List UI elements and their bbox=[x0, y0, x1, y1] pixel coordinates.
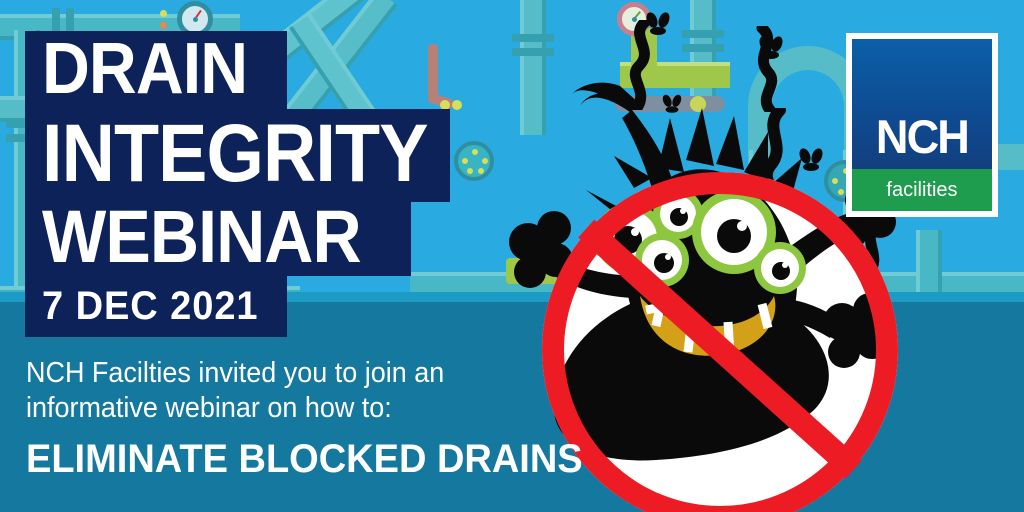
event-date: 7 DEC 2021 bbox=[42, 285, 259, 327]
shower-hole-4 bbox=[467, 168, 473, 174]
title-line-integrity: INTEGRITY bbox=[42, 112, 428, 196]
promotional-banner: DRAIN INTEGRITY WEBINAR 7 DEC 2021 NCH F… bbox=[0, 0, 1024, 512]
gauge-hub-main bbox=[193, 17, 198, 22]
logo-division-text: facilities bbox=[886, 179, 957, 201]
fly-icon-1 bbox=[643, 12, 673, 36]
title-line-drain: DRAIN bbox=[42, 33, 247, 105]
fly-icon-2 bbox=[756, 36, 786, 60]
pipe-collar-8 bbox=[682, 44, 724, 52]
gauge-dot-1 bbox=[160, 10, 167, 17]
nch-facilities-logo: NCH facilities bbox=[846, 33, 998, 217]
shower-hole-1 bbox=[472, 149, 478, 155]
pipe-vertical-bottom bbox=[916, 230, 942, 292]
logo-division-panel: facilities bbox=[852, 169, 992, 211]
intro-paragraph: NCH Facilties invited you to join an inf… bbox=[26, 356, 510, 426]
offer-headline: ELIMINATE BLOCKED DRAINS bbox=[26, 437, 583, 481]
pipe-collar-6 bbox=[512, 48, 554, 56]
logo-brand-panel: NCH bbox=[852, 39, 992, 169]
pipe-collar-7 bbox=[682, 30, 724, 38]
title-line-webinar: WEBINAR bbox=[42, 199, 361, 275]
logo-brand-text: NCH bbox=[876, 111, 968, 163]
gauge-dot-2 bbox=[160, 22, 167, 29]
pipe-collar-5 bbox=[512, 34, 554, 42]
brown-pipe-dot-2 bbox=[452, 100, 462, 110]
shower-hole-2 bbox=[462, 158, 468, 164]
